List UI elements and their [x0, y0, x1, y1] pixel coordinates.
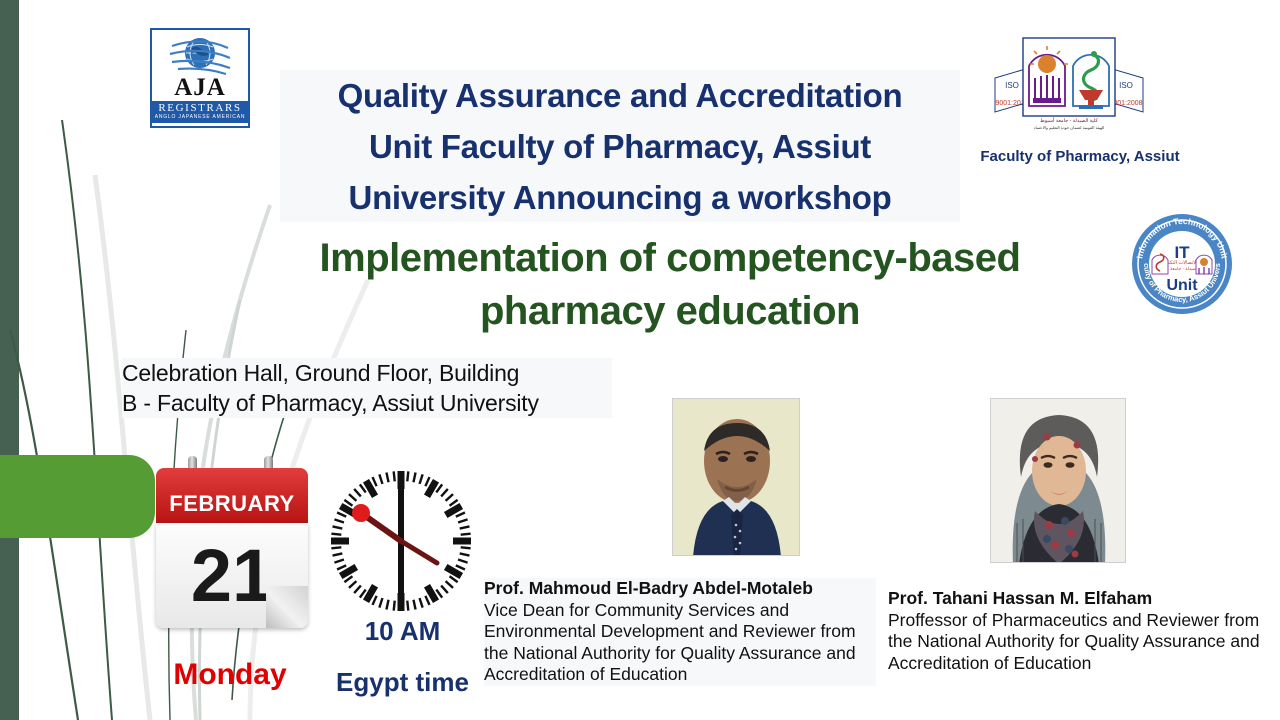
aja-registrars-logo: AJA REGISTRARS ANGLO JAPANESE AMERICAN	[150, 28, 250, 128]
time-label: 10 AM	[320, 616, 485, 647]
svg-text:كلية الصيدلة - جامعة أسيوط: كلية الصيدلة - جامعة أسيوط	[1040, 116, 1098, 124]
left-accent-bar	[0, 0, 19, 720]
globe-icon	[164, 34, 236, 76]
aja-registrars-text: REGISTRARS	[152, 102, 248, 114]
workshop-title-block: Quality Assurance and Accreditation Unit…	[280, 70, 960, 222]
title-line-1: Quality Assurance and Accreditation	[338, 70, 903, 121]
venue-text: Celebration Hall, Ground Floor, Building…	[122, 358, 612, 418]
faculty-of-pharmacy-assiut-logo: ISO 9001:2015 ISO 9001:2008 كلية الصيدلة…	[993, 32, 1145, 137]
portrait-female-speaker	[991, 399, 1126, 563]
speaker-name-2: Prof. Tahani Hassan M. Elfaham	[888, 588, 1280, 610]
speaker-bio-1: Prof. Mahmoud El-Badry Abdel-Motaleb Vic…	[484, 578, 876, 686]
pharmacy-logo-caption: Faculty of Pharmacy, Assiut	[955, 148, 1205, 165]
venue-line-1: Celebration Hall, Ground Floor, Building	[122, 358, 612, 388]
speaker-photo-1	[672, 398, 800, 556]
speaker-bio-2: Prof. Tahani Hassan M. Elfaham Proffesso…	[888, 588, 1280, 674]
aja-band: REGISTRARS ANGLO JAPANESE AMERICAN	[152, 101, 248, 123]
speaker-photo-2	[990, 398, 1126, 563]
clock-icon	[325, 465, 477, 617]
calendar-page-fold	[266, 586, 308, 628]
svg-text:الهيئة القومية لضمان جودة التع: الهيئة القومية لضمان جودة التعليم والاعت…	[1034, 125, 1105, 130]
venue-line-2: B - Faculty of Pharmacy, Assiut Universi…	[122, 388, 612, 418]
calendar-icon: FEBRUARY 21	[156, 468, 308, 628]
speaker-role-2: Proffessor of Pharmaceutics and Reviewer…	[888, 610, 1280, 675]
announcement-slide: AJA REGISTRARS ANGLO JAPANESE AMERICAN I…	[0, 0, 1280, 720]
green-accent-tag	[0, 455, 155, 538]
weekday-label: Monday	[140, 658, 320, 692]
title-line-3: University Announcing a workshop	[349, 172, 892, 223]
timezone-label: Egypt time	[310, 667, 495, 698]
svg-text:Unit: Unit	[1166, 277, 1198, 294]
aja-subtitle-text: ANGLO JAPANESE AMERICAN	[152, 114, 248, 121]
svg-text:ISO: ISO	[1005, 81, 1019, 90]
aja-wordmark: AJA	[174, 76, 226, 100]
speaker-role-1: Vice Dean for Community Services and Env…	[484, 600, 876, 686]
it-unit-logo: Information Technology Unit Faculty of P…	[1128, 210, 1236, 318]
clock-marker-dot	[352, 504, 370, 522]
speaker-name-1: Prof. Mahmoud El-Badry Abdel-Motaleb	[484, 578, 876, 600]
svg-text:ISO: ISO	[1119, 81, 1133, 90]
calendar-month: FEBRUARY	[156, 468, 308, 523]
title-line-2: Unit Faculty of Pharmacy, Assiut	[369, 121, 871, 172]
portrait-male-speaker	[673, 399, 800, 556]
workshop-subtitle: Implementation of competency-based pharm…	[300, 232, 1040, 338]
